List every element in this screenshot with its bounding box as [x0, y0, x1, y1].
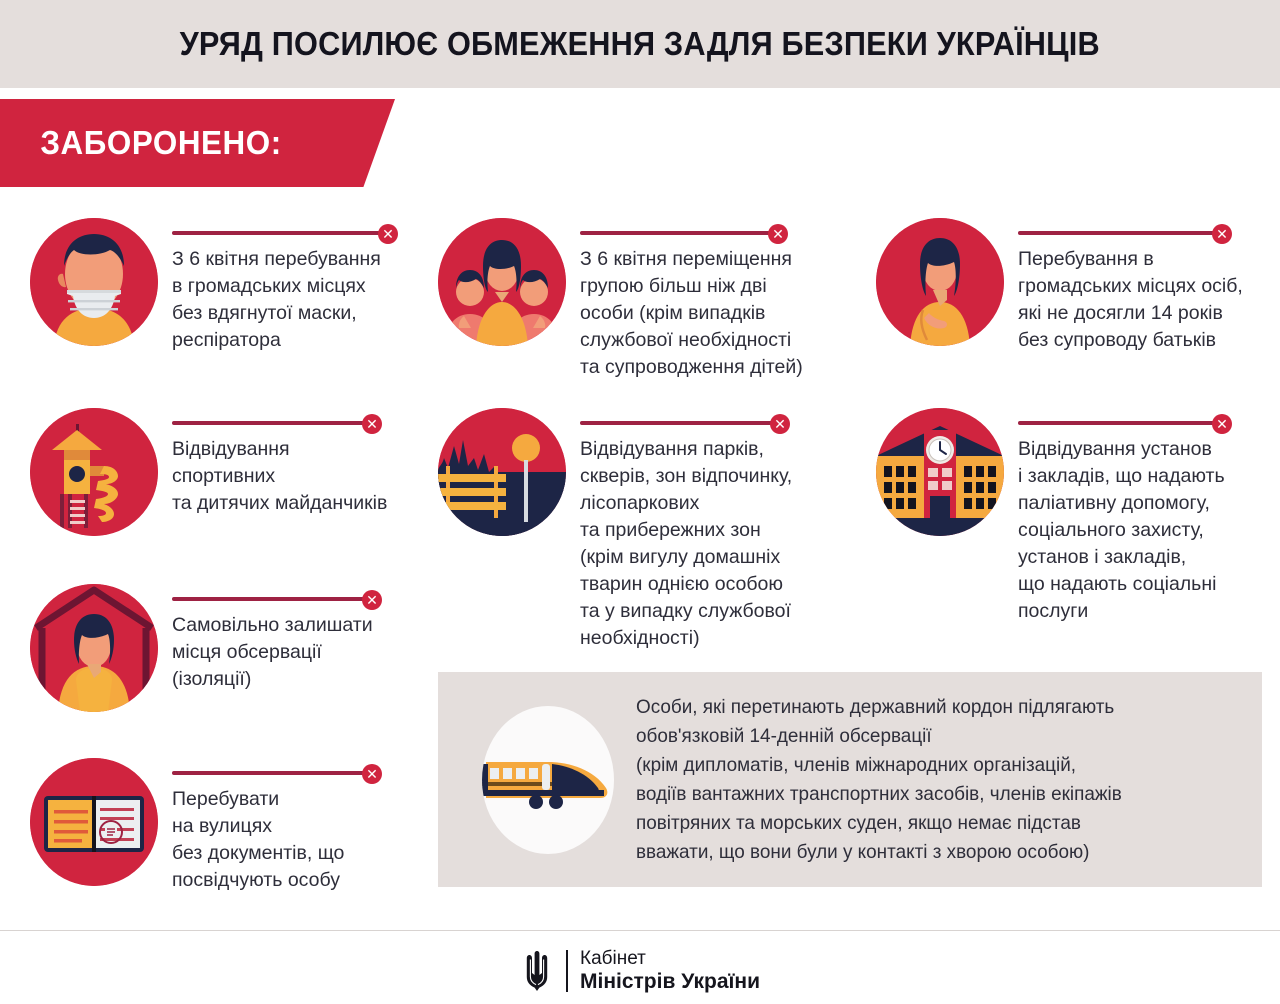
restriction-item-mask: ✕ З 6 квітня перебування в громадських м…	[30, 218, 420, 354]
restriction-text: Перебувати на вулицях без документів, що…	[172, 786, 420, 894]
restriction-item-documents: ✕ Перебувати на вулицях без документів, …	[30, 758, 420, 894]
institution-building-icon	[876, 408, 1004, 536]
item-body: ✕ Відвідування спортивних та дитячих май…	[172, 408, 420, 517]
masked-person-icon	[30, 218, 158, 346]
footer-text: Кабінет Міністрів України	[580, 948, 760, 994]
ministers-label: Міністрів України	[580, 970, 760, 994]
footer-divider	[0, 930, 1280, 931]
child-alone-icon	[876, 218, 1004, 346]
rule-with-x: ✕	[172, 414, 420, 432]
banner-text: Особи, які перетинають державний кордон …	[636, 693, 1122, 867]
rule-with-x: ✕	[580, 224, 838, 242]
restriction-text: Самовільно залишати місця обсервації (із…	[172, 612, 420, 693]
train-icon	[482, 706, 614, 854]
restriction-text: Відвідування парків, скверів, зон відпоч…	[580, 436, 836, 652]
restriction-item-institutions: ✕ Відвідування установ і закладів, що на…	[876, 408, 1266, 625]
item-body: ✕ З 6 квітня переміщення групою більш ні…	[580, 218, 838, 381]
close-icon: ✕	[362, 414, 382, 434]
footer: Кабінет Міністрів України	[0, 938, 1280, 1004]
restriction-item-parks: ✕ Відвідування парків, скверів, зон відп…	[438, 408, 838, 652]
item-body: ✕ Самовільно залишати місця обсервації (…	[172, 584, 420, 693]
item-body: ✕ З 6 квітня перебування в громадських м…	[172, 218, 418, 354]
person-at-home-icon	[30, 584, 158, 712]
item-body: ✕ Перебувати на вулицях без документів, …	[172, 758, 420, 894]
restriction-item-observation: ✕ Самовільно залишати місця обсервації (…	[30, 584, 420, 712]
restriction-text: Перебування в громадських місцях осіб, я…	[1018, 246, 1266, 354]
ukraine-trident-icon	[520, 949, 554, 993]
passport-document-icon	[30, 758, 158, 886]
restriction-text: Відвідування установ і закладів, що нада…	[1018, 436, 1266, 625]
restriction-text: З 6 квітня переміщення групою більш ніж …	[580, 246, 838, 381]
rule-with-x: ✕	[172, 590, 420, 608]
close-icon: ✕	[362, 764, 382, 784]
rule-with-x: ✕	[580, 414, 836, 432]
restriction-text: Відвідування спортивних та дитячих майда…	[172, 436, 420, 517]
close-icon: ✕	[1212, 414, 1232, 434]
cabinet-label: Кабінет	[580, 948, 760, 970]
restriction-text: З 6 квітня перебування в громадських міс…	[172, 246, 418, 354]
footer-separator	[566, 950, 568, 992]
close-icon: ✕	[1212, 224, 1232, 244]
item-body: ✕ Відвідування установ і закладів, що на…	[1018, 408, 1266, 625]
rule-with-x: ✕	[1018, 224, 1266, 242]
restriction-item-minors: ✕ Перебування в громадських місцях осіб,…	[876, 218, 1266, 354]
close-icon: ✕	[362, 590, 382, 610]
close-icon: ✕	[768, 224, 788, 244]
close-icon: ✕	[770, 414, 790, 434]
park-bench-icon	[438, 408, 566, 536]
group-of-people-icon	[438, 218, 566, 346]
border-crossing-banner: Особи, які перетинають державний кордон …	[438, 672, 1262, 887]
rule-with-x: ✕	[1018, 414, 1266, 432]
playground-icon	[30, 408, 158, 536]
restriction-item-playground: ✕ Відвідування спортивних та дитячих май…	[30, 408, 420, 536]
rule-with-x: ✕	[172, 764, 420, 782]
restriction-item-group: ✕ З 6 квітня переміщення групою більш ні…	[438, 218, 838, 381]
rule-with-x: ✕	[172, 224, 418, 242]
item-body: ✕ Відвідування парків, скверів, зон відп…	[580, 408, 836, 652]
close-icon: ✕	[378, 224, 398, 244]
item-body: ✕ Перебування в громадських місцях осіб,…	[1018, 218, 1266, 354]
